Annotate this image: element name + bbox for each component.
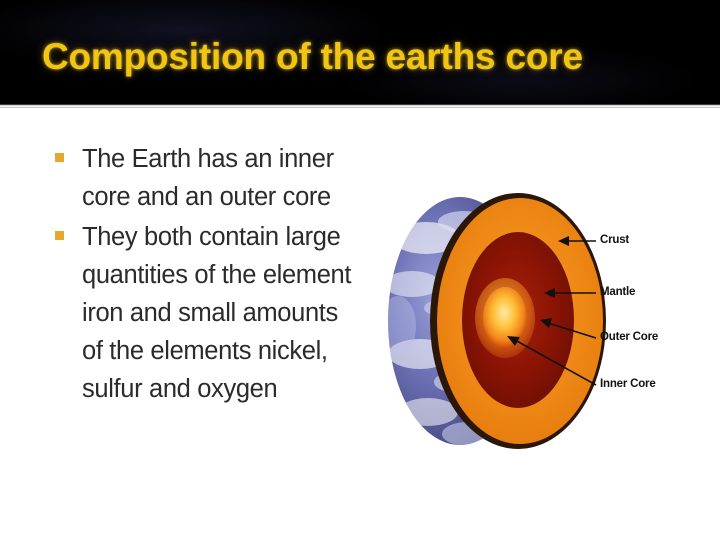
- title-banner: Composition of the earths core: [0, 0, 720, 104]
- slide: Composition of the earths core The Earth…: [0, 0, 720, 539]
- bullet-list: The Earth has an inner core and an outer…: [48, 140, 360, 410]
- list-item: They both contain large quantities of th…: [48, 218, 360, 408]
- bullet-square-icon: [55, 231, 64, 240]
- bullet-text: The Earth has an inner core and an outer…: [82, 145, 334, 211]
- earth-cutaway-diagram: Crust Mantle Outer Core Inner Core: [368, 176, 720, 466]
- diagram-label-outer-core: Outer Core: [600, 331, 658, 343]
- diagram-label-crust: Crust: [600, 234, 629, 246]
- diagram-label-inner-core: Inner Core: [600, 378, 656, 390]
- list-item: The Earth has an inner core and an outer…: [48, 140, 360, 216]
- earth-cutaway-graphic: [368, 176, 720, 466]
- page-title: Composition of the earths core: [42, 36, 682, 78]
- bullet-square-icon: [55, 153, 64, 162]
- bullet-text: They both contain large quantities of th…: [82, 223, 351, 403]
- diagram-label-mantle: Mantle: [600, 286, 635, 298]
- banner-divider: [0, 104, 720, 110]
